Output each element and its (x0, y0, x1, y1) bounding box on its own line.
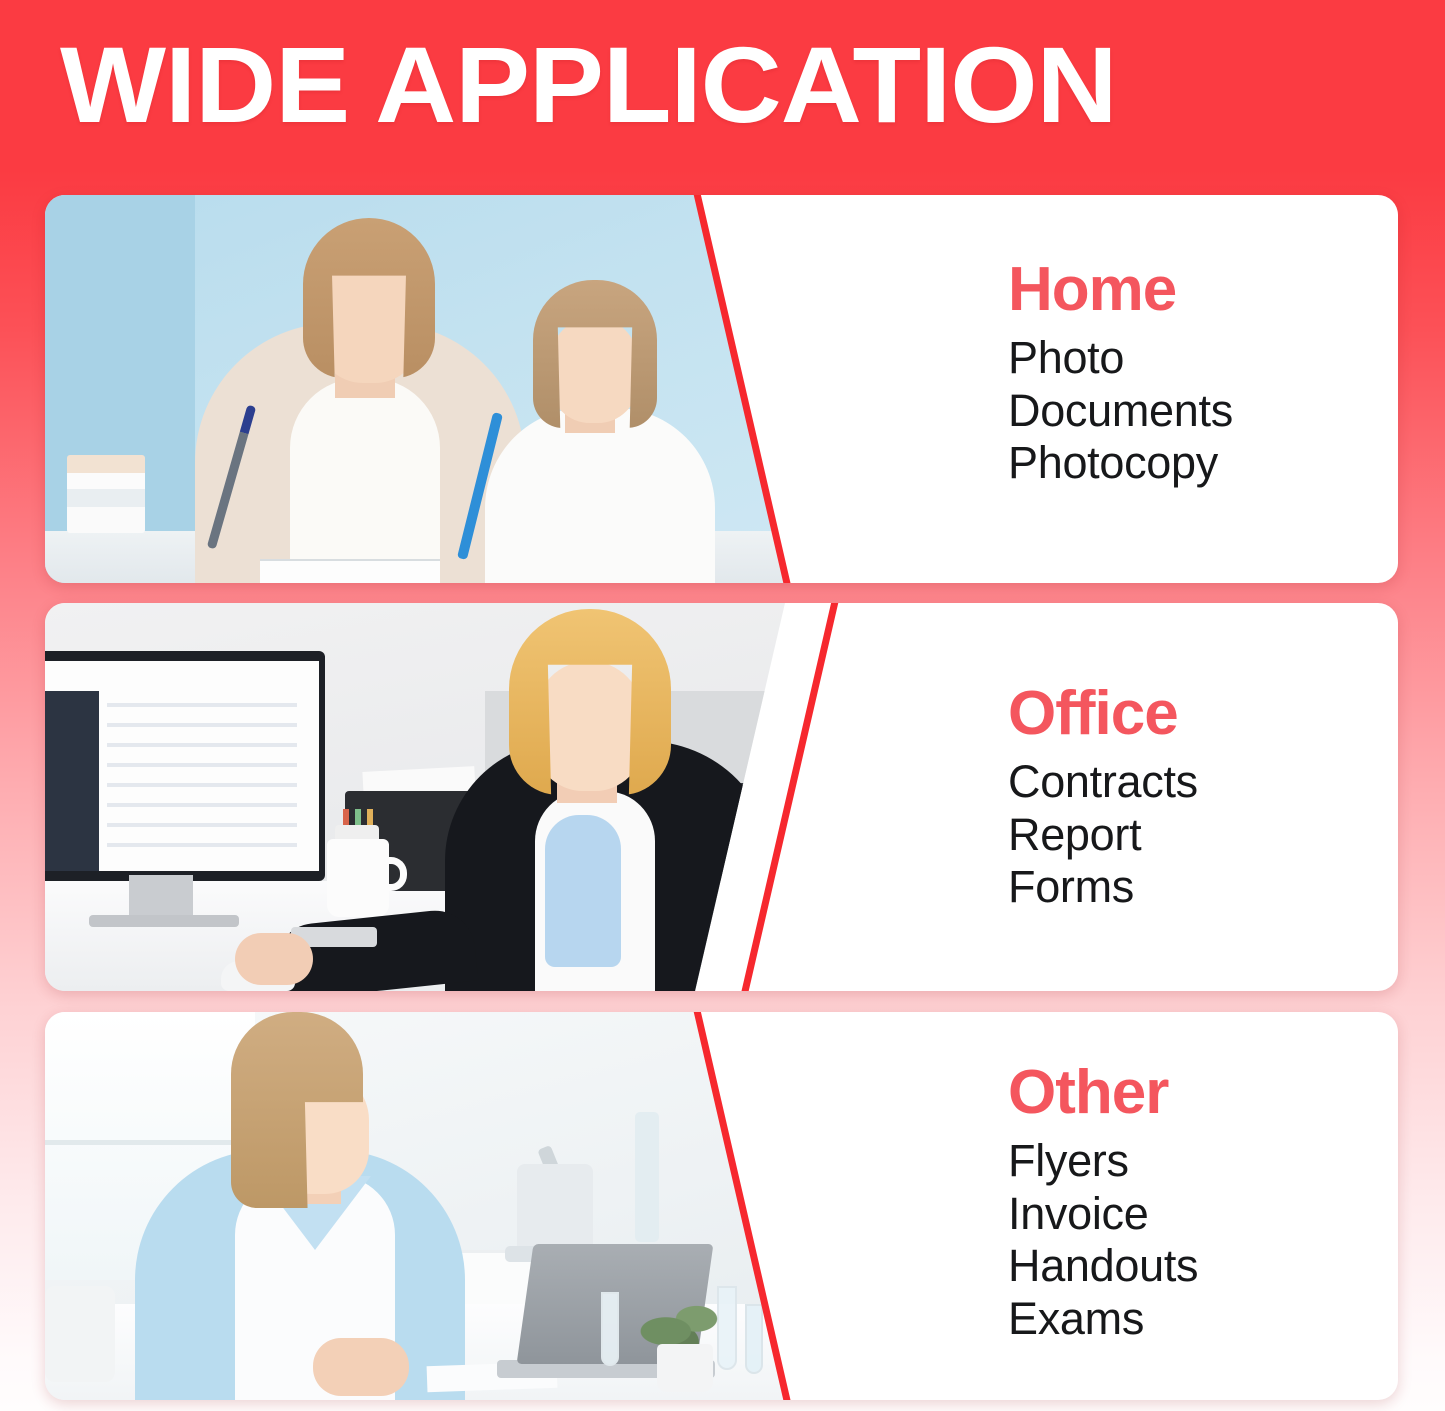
list-item: Forms (1008, 861, 1398, 914)
card-text-panel-home: Home Photo Documents Photocopy (963, 195, 1398, 583)
page-title: WIDE APPLICATION (60, 31, 1117, 139)
list-item: Flyers (1008, 1135, 1398, 1188)
card-item-list: Photo Documents Photocopy (1008, 332, 1398, 490)
list-item: Handouts (1008, 1240, 1398, 1293)
list-item: Documents (1008, 385, 1398, 438)
card-photo-home (45, 195, 845, 583)
microscope-icon (517, 1164, 593, 1256)
list-item: Invoice (1008, 1188, 1398, 1241)
list-item: Photocopy (1008, 437, 1398, 490)
scene-office-desk (45, 603, 845, 991)
application-card-home: Home Photo Documents Photocopy (45, 195, 1398, 583)
card-photo-office (45, 603, 845, 991)
card-heading: Other (1008, 1060, 1398, 1125)
scene-home-tutoring (45, 195, 845, 583)
application-card-office: Office Contracts Report Forms (45, 603, 1398, 991)
card-heading: Office (1008, 681, 1398, 746)
application-card-other: Other Flyers Invoice Handouts Exams (45, 1012, 1398, 1400)
card-photo-other (45, 1012, 845, 1400)
books-stack-icon (67, 455, 145, 533)
list-item: Photo (1008, 332, 1398, 385)
list-item: Report (1008, 809, 1398, 862)
plant-icon (657, 1344, 713, 1392)
mug-icon (327, 839, 389, 917)
wide-application-infographic: WIDE APPLICATION Home (0, 0, 1445, 1411)
card-item-list: Contracts Report Forms (1008, 756, 1398, 914)
scene-lab-clinic (45, 1012, 845, 1400)
card-item-list: Flyers Invoice Handouts Exams (1008, 1135, 1398, 1346)
header-band: WIDE APPLICATION (0, 0, 1445, 170)
list-item: Contracts (1008, 756, 1398, 809)
card-text-panel-office: Office Contracts Report Forms (963, 603, 1398, 991)
list-item: Exams (1008, 1293, 1398, 1346)
card-heading: Home (1008, 257, 1398, 322)
card-text-panel-other: Other Flyers Invoice Handouts Exams (963, 1012, 1398, 1400)
